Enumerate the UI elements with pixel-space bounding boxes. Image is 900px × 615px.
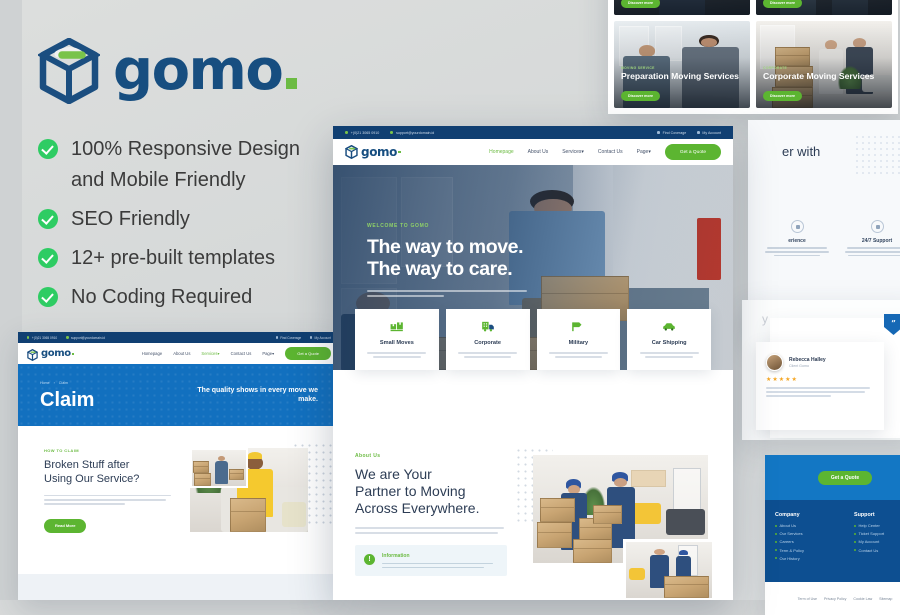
information-callout: Information: [355, 545, 507, 577]
page-title: Claim: [40, 390, 94, 410]
check-circle-icon: [38, 209, 58, 229]
footer-link-label: Term & Policy: [780, 548, 804, 553]
bullet-icon: [775, 533, 777, 535]
brand-dot: [286, 78, 297, 89]
info-circle-icon: [364, 554, 375, 565]
service-card-title: Small Moves: [361, 340, 433, 346]
nav-link-page[interactable]: Page▾: [637, 149, 651, 155]
get-a-quote-button[interactable]: Get a Quote: [665, 144, 721, 160]
nav-link-homepage[interactable]: Homepage: [142, 351, 163, 356]
information-title: Information: [382, 553, 498, 559]
testimonial-author: Rebecca Halley: [789, 357, 826, 363]
feature-block: erience: [764, 220, 830, 256]
bullet-icon: [775, 541, 777, 543]
email-contact[interactable]: support@yourdomain.id: [66, 336, 105, 340]
brand-dot: [72, 353, 74, 355]
section-kicker: How to claim: [44, 448, 174, 453]
nav-link-services[interactable]: Services▾: [201, 351, 219, 356]
cube-logo-icon: [345, 145, 358, 159]
footer-link[interactable]: Our History: [775, 556, 836, 561]
get-a-quote-button[interactable]: Get a Quote: [818, 471, 872, 485]
nav-link-page[interactable]: Page▾: [262, 351, 274, 356]
site-navbar: gomo Homepage About Us Services▾ Contact…: [333, 139, 733, 165]
service-card[interactable]: Discover more: [614, 0, 750, 15]
list-item: 12+ pre-built templates: [38, 243, 338, 274]
testimonial-role: Client Gomo: [789, 364, 826, 368]
list-item: SEO Friendly: [38, 204, 338, 235]
list-item: No Coding Required: [38, 282, 338, 313]
section-title: Broken Stuff after Using Our Service?: [44, 459, 174, 487]
feature-label: No Coding Required: [71, 282, 252, 313]
map-pin-icon: [276, 336, 278, 338]
discover-more-button[interactable]: Discover more: [621, 0, 660, 8]
breadcrumb-current: Claim: [59, 381, 68, 385]
about-image-group: [519, 453, 711, 600]
headset-icon: [871, 220, 884, 233]
building-truck-icon: [481, 320, 495, 333]
about-kicker: About Us: [355, 453, 507, 459]
email-contact[interactable]: support@yourdomain.id: [390, 131, 434, 135]
feature-text-lines: [844, 247, 900, 256]
footer-link[interactable]: Term & Policy: [775, 548, 836, 553]
check-circle-icon: [38, 139, 58, 159]
bullet-icon: [854, 525, 856, 527]
bullet-icon: [775, 525, 777, 527]
badge-icon: [791, 220, 804, 233]
service-card-title: Corporate Moving Services: [763, 72, 885, 81]
my-account-label: My Account: [315, 336, 331, 340]
email-address: support@yourdomain.id: [396, 131, 434, 135]
feature-label: SEO Friendly: [71, 204, 190, 235]
claim-page-mockup: +(0)21 3065 0910 support@yourdomain.id F…: [18, 332, 340, 600]
car-icon: [662, 320, 676, 333]
service-card-kicker: Moving Service: [621, 66, 743, 70]
service-card-title: Car Shipping: [633, 340, 705, 346]
service-card-military[interactable]: Military: [537, 309, 621, 370]
nav-link-about-us[interactable]: About Us: [173, 351, 190, 356]
find-coverage-label: Find Coverage: [280, 336, 301, 340]
footer-column-company: Company About Us Our Services Careers Te…: [775, 512, 836, 570]
brand-logo: gomo: [38, 38, 338, 104]
phone-contact[interactable]: +(0)21 3065 0910: [27, 336, 57, 340]
footer-mockup: Get a Quote Company About Us Our Service…: [765, 455, 900, 615]
site-topbar: +(0)21 3065 0910 support@yourdomain.id F…: [333, 126, 733, 139]
feature-label: 100% Responsive Design: [71, 134, 300, 165]
service-card[interactable]: Corporate Corporate Moving Services Disc…: [756, 21, 892, 108]
service-cards-row: Small Moves Corporate: [333, 331, 733, 370]
about-title: We are Your Partner to Moving Across Eve…: [355, 466, 507, 518]
read-more-button[interactable]: Read More: [44, 519, 86, 533]
footer-link[interactable]: My Account: [854, 539, 900, 544]
envelope-icon: [66, 336, 68, 338]
phone-icon: [345, 131, 348, 134]
service-cards-preview-mockup: Discover more Discover more: [608, 0, 898, 114]
feature-title: erience: [764, 238, 830, 244]
chevron-down-icon: ▾: [217, 351, 219, 356]
phone-contact[interactable]: +(0)21 3065 0910: [345, 131, 379, 135]
brand-wordmark: gomo: [113, 43, 282, 99]
map-pin-icon: [657, 131, 660, 134]
hero-title: The way to move. The way to care.: [367, 236, 597, 280]
bullet-icon: [775, 549, 777, 551]
footer-column-title: Support: [854, 512, 900, 518]
email-address: support@yourdomain.id: [71, 336, 105, 340]
footer-link-label: About Us: [780, 523, 796, 528]
footer-link[interactable]: Our Services: [775, 531, 836, 536]
find-coverage-link[interactable]: Find Coverage: [276, 336, 301, 340]
footer-cta-band: Get a Quote: [765, 455, 900, 500]
site-topbar: +(0)21 3065 0910 support@yourdomain.id F…: [18, 332, 340, 343]
get-a-quote-button[interactable]: Get a Quote: [285, 347, 331, 360]
service-card-text: [633, 352, 705, 358]
star-rating: ★★★★★: [766, 376, 874, 383]
discover-more-button[interactable]: Discover more: [763, 0, 802, 8]
bullet-icon: [854, 541, 856, 543]
service-card-title: Preparation Moving Services: [621, 72, 743, 81]
service-card-text: [543, 352, 615, 358]
breadcrumb: Home › Claim: [40, 381, 94, 385]
footer-link[interactable]: Careers: [775, 539, 836, 544]
feature-title: 24/7 Support: [844, 238, 900, 244]
bullet-icon: [854, 533, 856, 535]
feature-label: 12+ pre-built templates: [71, 243, 275, 274]
footer-link-label: Contact Us: [859, 548, 879, 553]
feature-block: 24/7 Support: [844, 220, 900, 256]
site-navbar: gomo Homepage About Us Services▾ Contact…: [18, 343, 340, 364]
chevron-down-icon: ▾: [648, 149, 651, 155]
footer-column-support: Support Help Center Ticket Support My Ac…: [854, 512, 900, 570]
service-card-small-moves[interactable]: Small Moves: [355, 309, 439, 370]
footer-link[interactable]: Ticket Support: [854, 531, 900, 536]
shield-icon: [571, 320, 585, 333]
testimonial-text-lines: [766, 387, 874, 397]
section-paragraph: [44, 495, 174, 506]
service-card-text: [452, 352, 524, 358]
service-card-car-shipping[interactable]: Car Shipping: [627, 309, 711, 370]
photo-mover-boxes: [190, 448, 248, 488]
navbar-brand-name: gomo: [41, 348, 71, 359]
user-icon: [697, 131, 700, 134]
user-icon: [310, 336, 312, 338]
feature-list: 100% Responsive Design and Mobile Friend…: [38, 134, 338, 321]
find-coverage-label: Find Coverage: [663, 131, 687, 135]
nav-link-about-us[interactable]: About Us: [528, 149, 549, 155]
discover-more-button[interactable]: Discover more: [763, 91, 802, 100]
hero-kicker: Welcome to gomo: [367, 223, 597, 229]
phone-number: +(0)21 3065 0910: [32, 336, 57, 340]
hero-subtext: [367, 290, 527, 297]
my-account-link[interactable]: My Account: [697, 131, 721, 135]
bullet-icon: [775, 557, 777, 559]
check-circle-icon: [38, 287, 58, 307]
navbar-logo[interactable]: gomo: [27, 348, 74, 360]
claim-content-section: How to claim Broken Stuff after Using Ou…: [18, 426, 340, 544]
about-paragraph: [355, 527, 507, 534]
testimonial-card[interactable]: Rebecca Halley Client Gomo ★★★★★: [756, 342, 884, 430]
page-hero-banner: Home › Claim Claim The quality shows in …: [18, 364, 340, 426]
footer-links: Company About Us Our Services Careers Te…: [765, 500, 900, 582]
nav-link-services[interactable]: Services▾: [562, 149, 584, 155]
feature-label-continued: and Mobile Friendly: [38, 165, 338, 196]
photo-mover-packing: [623, 539, 715, 600]
breadcrumb-separator: ›: [54, 381, 55, 385]
information-text: [382, 563, 498, 569]
service-card-title: Corporate: [452, 340, 524, 346]
cube-logo-icon: [38, 38, 100, 104]
footer-link-label: Our History: [780, 556, 800, 561]
boxes-icon: [390, 320, 404, 333]
footer-link-label: Our Services: [780, 531, 803, 536]
footer-link[interactable]: Help Center: [854, 523, 900, 528]
service-card[interactable]: Discover more: [756, 0, 892, 15]
about-section: About Us We are Your Partner to Moving A…: [333, 423, 733, 600]
breadcrumb-home[interactable]: Home: [40, 381, 50, 385]
footer-link-label: Help Center: [859, 523, 880, 528]
chevron-down-icon: ▾: [581, 149, 584, 155]
footer-bottom-bar: Term of Use Privacy Policy Cookie Law Si…: [765, 582, 900, 615]
service-card-title: Military: [543, 340, 615, 346]
avatar: [766, 354, 783, 371]
claim-image-group: [190, 448, 330, 544]
feature-text-lines: [764, 247, 830, 256]
service-card-text: [361, 352, 433, 358]
check-circle-icon: [38, 248, 58, 268]
service-card[interactable]: Moving Service Preparation Moving Servic…: [614, 21, 750, 108]
nav-link-homepage[interactable]: Homepage: [489, 149, 513, 155]
testimonial-mockup: y ” Rebecca Halley Client Gomo ★★★★★: [742, 300, 900, 440]
navbar-brand-name: gomo: [361, 145, 397, 159]
homepage-mockup: +(0)21 3065 0910 support@yourdomain.id F…: [333, 126, 733, 600]
hero-tagline: The quality shows in every move we make.: [183, 386, 318, 405]
footer-column-title: Company: [775, 512, 836, 518]
envelope-icon: [390, 131, 393, 134]
nav-link-contact-us[interactable]: Contact Us: [231, 351, 252, 356]
my-account-link[interactable]: My Account: [310, 336, 331, 340]
navbar-logo[interactable]: gomo: [345, 145, 401, 159]
page-bottom-strip: [18, 574, 340, 600]
bullet-icon: [854, 549, 856, 551]
service-card-corporate[interactable]: Corporate: [446, 309, 530, 370]
find-coverage-link[interactable]: Find Coverage: [657, 131, 686, 135]
service-card-kicker: Corporate: [763, 66, 885, 70]
list-item: 100% Responsive Design: [38, 134, 338, 165]
navbar-links: Homepage About Us Services▾ Contact Us P…: [489, 144, 721, 160]
footer-link[interactable]: Contact Us: [854, 548, 900, 553]
navbar-links: Homepage About Us Services▾ Contact Us P…: [142, 347, 331, 360]
brand-dot: [398, 151, 400, 153]
nav-link-contact-us[interactable]: Contact Us: [598, 149, 623, 155]
section-heading: y: [762, 312, 768, 326]
footer-link-label: My Account: [859, 539, 880, 544]
promo-panel: gomo 100% Responsive Design and Mobile F…: [38, 38, 338, 321]
chevron-down-icon: ▾: [272, 351, 274, 356]
footer-link-label: Careers: [780, 539, 794, 544]
discover-more-button[interactable]: Discover more: [621, 91, 660, 100]
phone-icon: [27, 336, 29, 338]
footer-link-label: Ticket Support: [859, 531, 885, 536]
cube-logo-icon: [27, 348, 38, 360]
my-account-label: My Account: [702, 131, 721, 135]
footer-link[interactable]: About Us: [775, 523, 836, 528]
decorative-dot-grid: [854, 134, 900, 174]
phone-number: +(0)21 3065 0910: [351, 131, 379, 135]
